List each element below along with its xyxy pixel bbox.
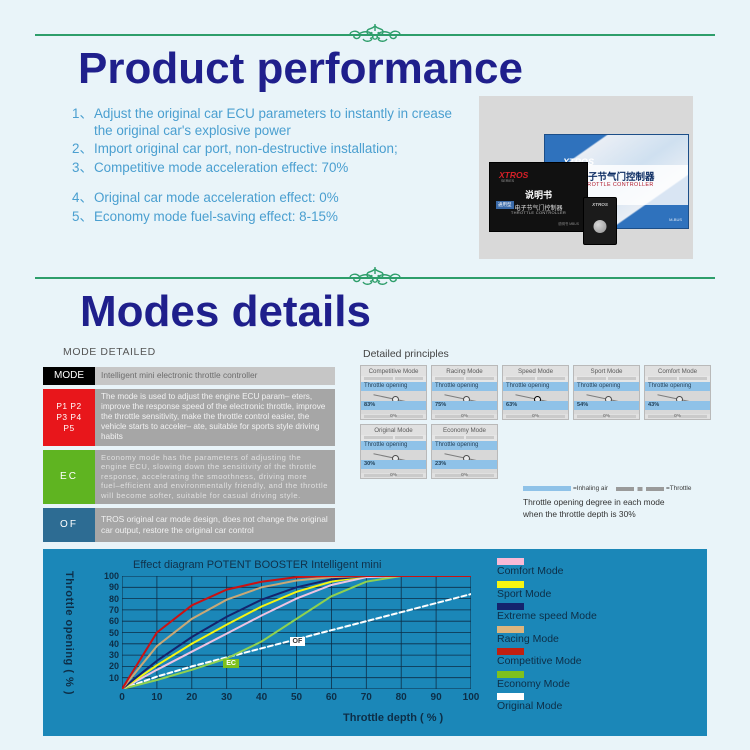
mode-card-value: 23% — [432, 460, 497, 469]
mode-card-opening-label: Throttle opening — [432, 441, 497, 450]
box-model-mark: M-BUS — [669, 217, 682, 222]
chart-legend-swatch — [497, 693, 524, 700]
list-item: 5、 Economy mode fuel-saving effect: 8-15… — [72, 209, 472, 226]
chart-y-tick: 10 — [109, 673, 119, 683]
chart-y-tick: 60 — [109, 616, 119, 626]
mode-card-value: 75% — [432, 401, 497, 410]
chart-x-tick: 60 — [326, 692, 337, 703]
mode-card-foot: 0% — [432, 473, 497, 478]
mode-card-body: Throttle opening63% — [503, 382, 568, 414]
chart-y-tick: 80 — [109, 594, 119, 604]
table-header-value: Intelligent mini electronic throttle con… — [95, 367, 335, 385]
list-item-number: 4、 — [72, 190, 94, 207]
mode-card: Original ModeThrottle opening30%0% — [360, 424, 427, 479]
mode-card-foot: 0% — [432, 414, 497, 419]
mode-card-foot: 0% — [361, 473, 426, 478]
mode-card-foot-label: 0% — [390, 413, 397, 418]
mode-card-title: Speed Mode — [503, 366, 568, 376]
list-item-number: 1、 — [72, 106, 94, 139]
list-item: 4、 Original car mode acceleration effect… — [72, 190, 472, 207]
mode-card-row-1: Competitive ModeThrottle opening83%0%Rac… — [360, 365, 711, 420]
mode-principle-cards: Competitive ModeThrottle opening83%0%Rac… — [360, 365, 711, 483]
legend-label-inhaling-air: =Inhaling air — [573, 485, 608, 492]
chart-y-tick: 50 — [109, 628, 119, 638]
chart-legend-swatch — [497, 558, 524, 565]
chart-x-tick: 50 — [291, 692, 302, 703]
mode-card: Competitive ModeThrottle opening83%0% — [360, 365, 427, 420]
chart-legend-swatch — [497, 626, 524, 633]
chart-legend-label: Original Mode — [497, 700, 677, 712]
table-row-text: The mode is used to adjust the engine EC… — [95, 389, 335, 446]
p-key-line: P5 — [56, 423, 81, 434]
chart-y-axis-label: Throttle opening ( % ) — [63, 571, 75, 695]
mode-card-row-2: Original ModeThrottle opening30%0%Econom… — [360, 424, 711, 479]
legend-swatch-throttle — [616, 487, 664, 491]
table-header-row: MODE Intelligent mini electronic throttl… — [43, 367, 335, 385]
mode-card-value: 63% — [503, 401, 568, 410]
list-item-number: 2、 — [72, 141, 94, 158]
chart-legend-label: Sport Mode — [497, 588, 677, 600]
product-device-unit: XTROS — [583, 197, 617, 245]
table-row: OF TROS original car mode design, does n… — [43, 508, 335, 542]
mode-card-foot-label: 0% — [461, 413, 468, 418]
chart-x-tick: 90 — [431, 692, 442, 703]
mode-card-opening-label: Throttle opening — [645, 382, 710, 391]
legend-note-line-1: Throttle opening degree in each mode — [523, 496, 665, 508]
chart-y-tick: 100 — [104, 571, 119, 581]
mode-card-foot: 0% — [645, 414, 710, 419]
chart-x-tick: 100 — [463, 692, 480, 703]
mode-detailed-label: MODE DETAILED — [63, 346, 156, 358]
manual-subtitle-en: THROTTLE CONTROLLER — [490, 210, 587, 215]
chart-y-tick: 90 — [109, 582, 119, 592]
mode-card-opening-label: Throttle opening — [361, 382, 426, 391]
mode-card-opening-label: Throttle opening — [574, 382, 639, 391]
mode-card-foot-label: 0% — [674, 413, 681, 418]
mode-card-opening-label: Throttle opening — [432, 382, 497, 391]
mode-card-title: Competitive Mode — [361, 366, 426, 376]
chart-annotation-ec: EC — [223, 659, 239, 668]
mode-card-body: Throttle opening54% — [574, 382, 639, 414]
mode-card-body: Throttle opening30% — [361, 441, 426, 473]
device-knob — [594, 220, 607, 233]
mode-card-body: Throttle opening23% — [432, 441, 497, 473]
chart-legend-swatch — [497, 671, 524, 678]
table-row: EC Economy mode has the parameters of ad… — [43, 450, 335, 504]
chart-x-tick: 0 — [119, 692, 125, 703]
chart-x-axis-label: Throttle depth ( % ) — [343, 712, 443, 724]
mode-card-value: 83% — [361, 401, 426, 410]
chart-legend-item: Original Mode — [497, 693, 677, 712]
mode-card-body: Throttle opening83% — [361, 382, 426, 414]
chart-legend-label: Extreme speed Mode — [497, 610, 677, 622]
mode-card-value: 43% — [645, 401, 710, 410]
chart-legend-item: Comfort Mode — [497, 558, 677, 577]
chart-curves — [122, 576, 471, 689]
chart-y-tick: 30 — [109, 650, 119, 660]
table-row: P1 P2 P3 P4 P5 The mode is used to adjus… — [43, 389, 335, 446]
chart-x-tick: 70 — [361, 692, 372, 703]
list-item: 2、 Import original car port, non-destruc… — [72, 141, 472, 158]
mode-card-opening-label: Throttle opening — [361, 441, 426, 450]
mode-card-value: 30% — [361, 460, 426, 469]
page-title-modes-details: Modes details — [80, 287, 371, 337]
legend-note-line-2: when the throttle depth is 30% — [523, 508, 665, 520]
list-item-text: Import original car port, non-destructiv… — [94, 141, 472, 158]
mode-card: Sport ModeThrottle opening54%0% — [573, 365, 640, 420]
mode-card-foot: 0% — [574, 414, 639, 419]
legend-label-throttle: =Throttle — [666, 485, 691, 492]
list-spacer — [72, 178, 472, 190]
list-item-text: Competitive mode acceleration effect: 70… — [94, 160, 472, 177]
p-key-line: P3 P4 — [56, 412, 81, 423]
chart-plot-area: 1020304050607080901000102030405060708090… — [122, 576, 471, 689]
chart-x-tick: 30 — [221, 692, 232, 703]
chart-y-tick: 70 — [109, 605, 119, 615]
product-photo: XTROS 电子节气门控制器 THROTTLE CONTROLLER M-BUS… — [479, 96, 693, 259]
list-item-number: 5、 — [72, 209, 94, 226]
chart-x-tick: 20 — [186, 692, 197, 703]
mode-card-title: Racing Mode — [432, 366, 497, 376]
chart-legend-label: Competitive Mode — [497, 655, 677, 667]
chart-legend: Comfort ModeSport ModeExtreme speed Mode… — [497, 558, 677, 716]
chart-legend-item: Economy Mode — [497, 671, 677, 690]
table-row-key-ec: EC — [43, 450, 95, 504]
legend-swatch-inhaling-air — [523, 486, 571, 491]
mode-card-foot-label: 0% — [532, 413, 539, 418]
mode-card-foot-label: 0% — [461, 472, 468, 477]
chart-annotation-of: OF — [290, 637, 306, 646]
chart-legend-label: Racing Mode — [497, 633, 677, 645]
list-item-number: 3、 — [72, 160, 94, 177]
mode-card-opening-label: Throttle opening — [503, 382, 568, 391]
card-legend: =Inhaling air =Throttle — [523, 485, 691, 492]
mode-card-title: Sport Mode — [574, 366, 639, 376]
mode-card-body: Throttle opening75% — [432, 382, 497, 414]
p-key-line: P1 P2 — [56, 401, 81, 412]
table-row-text: TROS original car mode design, does not … — [95, 508, 335, 542]
device-brand-logo: XTROS — [584, 202, 616, 207]
chart-legend-swatch — [497, 648, 524, 655]
list-item: 1、 Adjust the original car ECU parameter… — [72, 106, 472, 139]
mode-card-body: Throttle opening43% — [645, 382, 710, 414]
mode-card: Comfort ModeThrottle opening43%0% — [644, 365, 711, 420]
chart-x-tick: 80 — [396, 692, 407, 703]
list-item-text: Economy mode fuel-saving effect: 8-15% — [94, 209, 472, 226]
page-title-product-performance: Product performance — [78, 44, 523, 94]
chart-x-tick: 40 — [256, 692, 267, 703]
mode-card: Racing ModeThrottle opening75%0% — [431, 365, 498, 420]
table-header-key: MODE — [43, 367, 95, 385]
chart-legend-label: Comfort Mode — [497, 565, 677, 577]
table-row-key-p: P1 P2 P3 P4 P5 — [43, 389, 95, 446]
chart-legend-item: Racing Mode — [497, 626, 677, 645]
card-legend-note: Throttle opening degree in each mode whe… — [523, 496, 665, 520]
manual-title-cn: 说明书 — [490, 188, 587, 201]
mode-card: Speed ModeThrottle opening63%0% — [502, 365, 569, 420]
mode-card-title: Comfort Mode — [645, 366, 710, 376]
chart-legend-swatch — [497, 581, 524, 588]
chart-legend-item: Sport Mode — [497, 581, 677, 600]
mode-card-foot: 0% — [503, 414, 568, 419]
mode-card-value: 54% — [574, 401, 639, 410]
table-row-key-of: OF — [43, 508, 95, 542]
performance-list: 1、 Adjust the original car ECU parameter… — [72, 106, 472, 227]
chart-legend-label: Economy Mode — [497, 678, 677, 690]
chart-y-tick: 20 — [109, 661, 119, 671]
mode-card-foot-label: 0% — [603, 413, 610, 418]
mode-detail-table: MODE Intelligent mini electronic throttl… — [43, 367, 335, 546]
manual-brand-sub: SERIES — [501, 179, 514, 183]
mode-card-title: Original Mode — [361, 425, 426, 435]
mode-card-title: Economy Mode — [432, 425, 497, 435]
chart-legend-swatch — [497, 603, 524, 610]
chart-title: Effect diagram POTENT BOOSTER Intelligen… — [133, 559, 381, 571]
chart-y-tick: 40 — [109, 639, 119, 649]
list-item-text: Adjust the original car ECU parameters t… — [94, 106, 472, 139]
mode-card-foot: 0% — [361, 414, 426, 419]
table-row-text: Economy mode has the parameters of adjus… — [95, 450, 335, 504]
product-manual: XTROS SERIES 说明书 通用型 电子节气门控制器 THROTTLE C… — [489, 162, 588, 232]
mode-card-foot-label: 0% — [390, 472, 397, 477]
list-item-text: Original car mode acceleration effect: 0… — [94, 190, 472, 207]
manual-footer-text: 说明书 MBUS — [558, 221, 579, 226]
chart-legend-item: Extreme speed Mode — [497, 603, 677, 622]
list-item: 3、 Competitive mode acceleration effect:… — [72, 160, 472, 177]
chart-legend-item: Competitive Mode — [497, 648, 677, 667]
mode-card: Economy ModeThrottle opening23%0% — [431, 424, 498, 479]
chart-x-tick: 10 — [151, 692, 162, 703]
detailed-principles-label: Detailed principles — [363, 348, 449, 360]
